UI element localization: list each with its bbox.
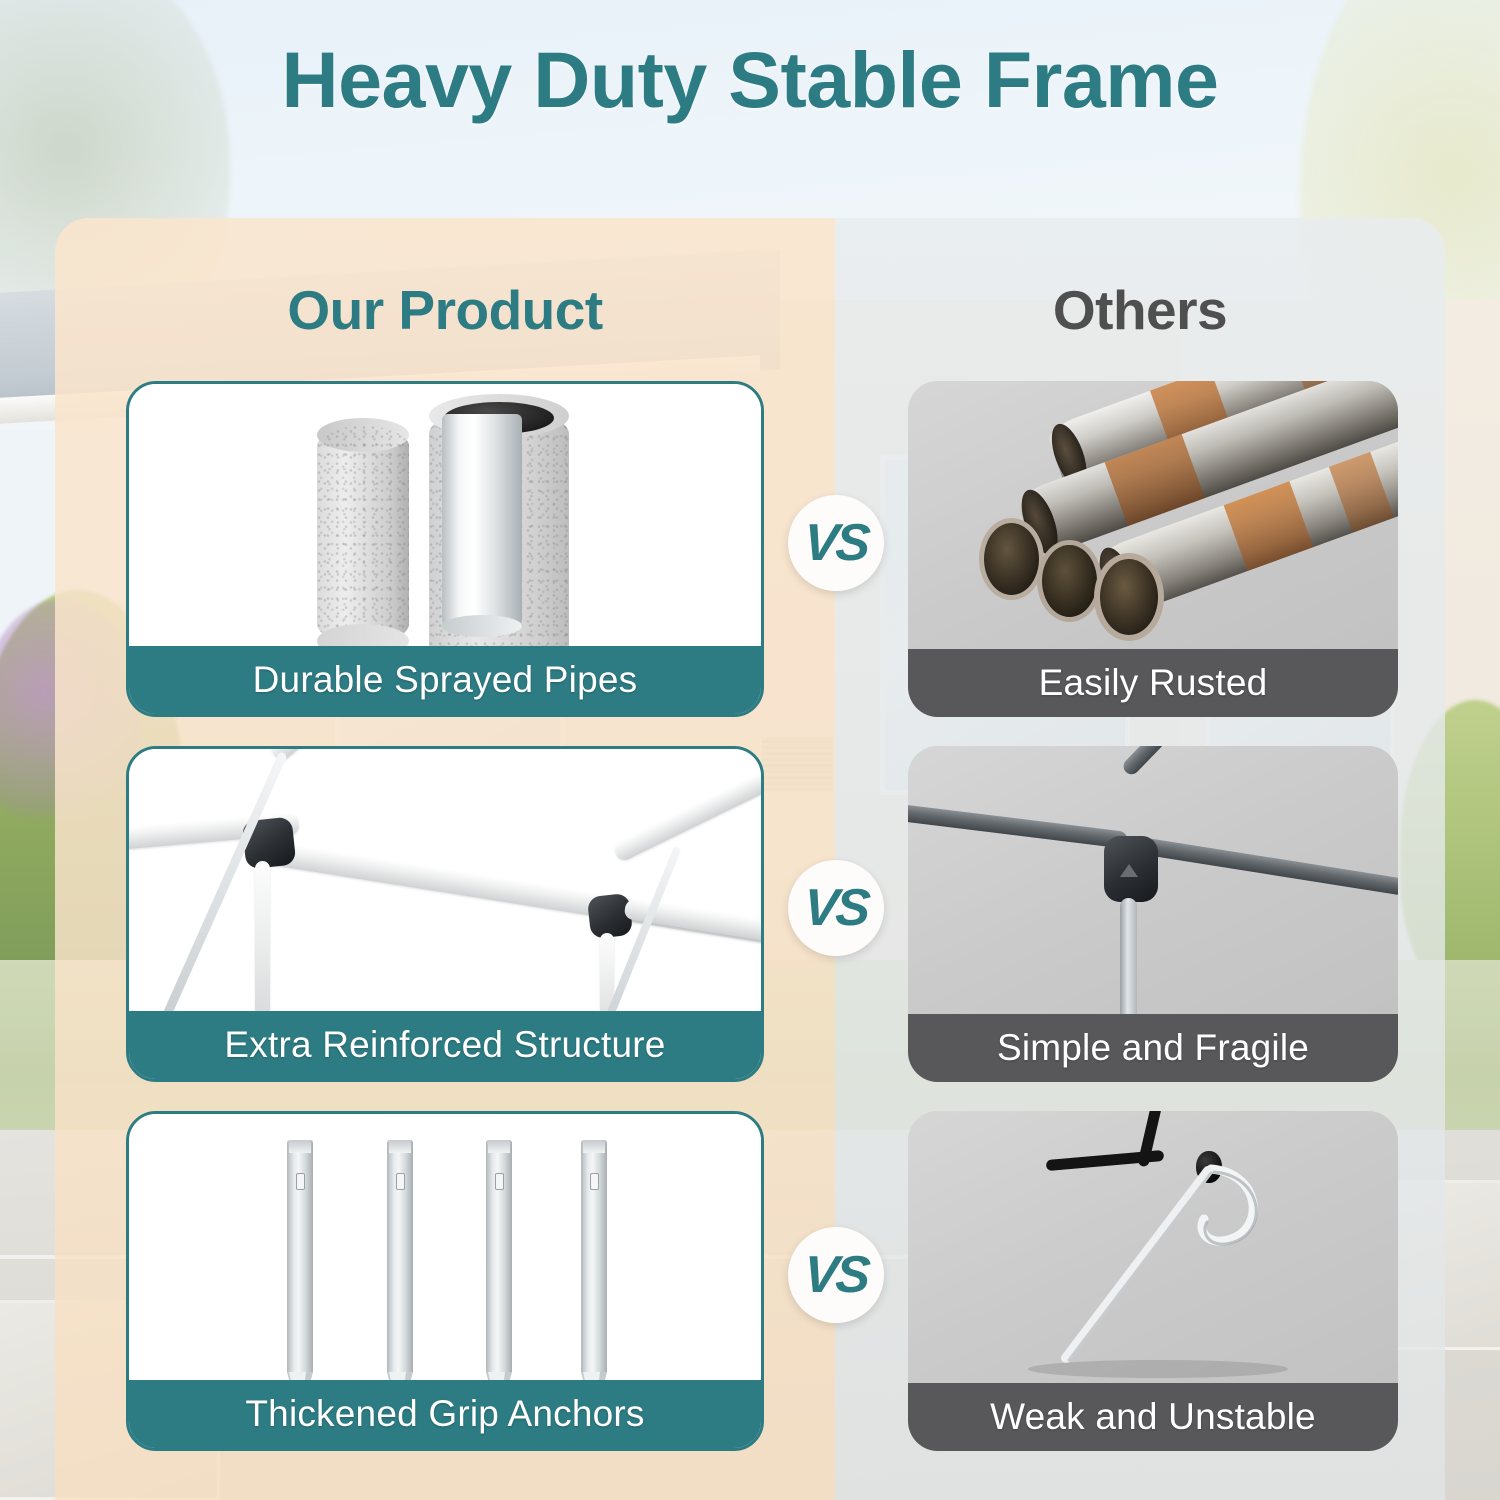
vs-badge-row-2: VS bbox=[788, 860, 884, 956]
stake-tip bbox=[287, 1372, 313, 1380]
card-others-row-1: Easily Rusted bbox=[908, 381, 1398, 717]
frame-leg-left bbox=[255, 861, 270, 1011]
stake-cap bbox=[389, 1140, 411, 1153]
rusted-pipe-end-c bbox=[1100, 559, 1158, 635]
image-easily-rusted-pipes bbox=[908, 381, 1398, 649]
joint-triangle-marking bbox=[1120, 864, 1138, 877]
caption-our-product-row-3: Thickened Grip Anchors bbox=[129, 1380, 761, 1448]
image-weak-unstable-hook bbox=[908, 1111, 1398, 1383]
caption-our-product-row-2: Extra Reinforced Structure bbox=[129, 1011, 761, 1079]
card-others-row-2: Simple and Fragile bbox=[908, 746, 1398, 1082]
spray-texture bbox=[317, 426, 409, 644]
card-others-row-3: Weak and Unstable bbox=[908, 1111, 1398, 1451]
stake-hole bbox=[495, 1173, 504, 1190]
stake-hole bbox=[296, 1173, 305, 1190]
rusted-pipe-end-b bbox=[1042, 545, 1097, 617]
card-our-product-row-3: Thickened Grip Anchors bbox=[126, 1111, 764, 1451]
caption-others-row-2: Simple and Fragile bbox=[908, 1014, 1398, 1082]
frame-eave-beam bbox=[257, 841, 761, 944]
vs-badge-row-3: VS bbox=[788, 1227, 884, 1323]
card-our-product-row-1: Durable Sprayed Pipes bbox=[126, 381, 764, 717]
caption-our-product-row-1: Durable Sprayed Pipes bbox=[129, 646, 761, 714]
infographic-page: Heavy Duty Stable Frame Our Product Othe… bbox=[0, 0, 1500, 1500]
vs-badge-row-1: VS bbox=[788, 495, 884, 591]
pipe-polished-metal-core bbox=[442, 414, 522, 626]
vs-badge-label: VS bbox=[802, 878, 870, 938]
column-header-others: Others bbox=[835, 278, 1445, 342]
image-thickened-grip-anchors bbox=[129, 1114, 761, 1380]
page-title: Heavy Duty Stable Frame bbox=[0, 34, 1500, 126]
spray-coating-sleeve bbox=[317, 426, 409, 644]
vs-badge-label: VS bbox=[802, 1245, 870, 1305]
hook-stake-shape bbox=[908, 1111, 1398, 1383]
caption-others-row-3: Weak and Unstable bbox=[908, 1383, 1398, 1451]
frame-rafter-right bbox=[612, 771, 761, 863]
stake-cap bbox=[289, 1140, 311, 1153]
stake-tip bbox=[581, 1372, 607, 1380]
image-simple-fragile-joint bbox=[908, 746, 1398, 1014]
image-extra-reinforced-structure bbox=[129, 749, 761, 1011]
stake-hole bbox=[590, 1173, 599, 1190]
stake-tip bbox=[387, 1372, 413, 1380]
stake-hole bbox=[396, 1173, 405, 1190]
card-our-product-row-2: Extra Reinforced Structure bbox=[126, 746, 764, 1082]
fragile-rafter-up bbox=[1120, 746, 1236, 778]
vs-badge-label: VS bbox=[802, 513, 870, 573]
fragile-center-pole bbox=[1120, 898, 1137, 1014]
rusted-pipe-end-a bbox=[984, 523, 1039, 595]
fragile-beam-right bbox=[1138, 837, 1398, 896]
hook-assembly bbox=[908, 1111, 1398, 1383]
column-header-our-product: Our Product bbox=[55, 278, 835, 342]
image-durable-sprayed-pipes bbox=[129, 384, 761, 646]
stake-tip bbox=[486, 1372, 512, 1380]
stake-cap bbox=[583, 1140, 605, 1153]
fragile-beam-left bbox=[908, 804, 1128, 849]
stake-cap bbox=[488, 1140, 510, 1153]
caption-others-row-1: Easily Rusted bbox=[908, 649, 1398, 717]
